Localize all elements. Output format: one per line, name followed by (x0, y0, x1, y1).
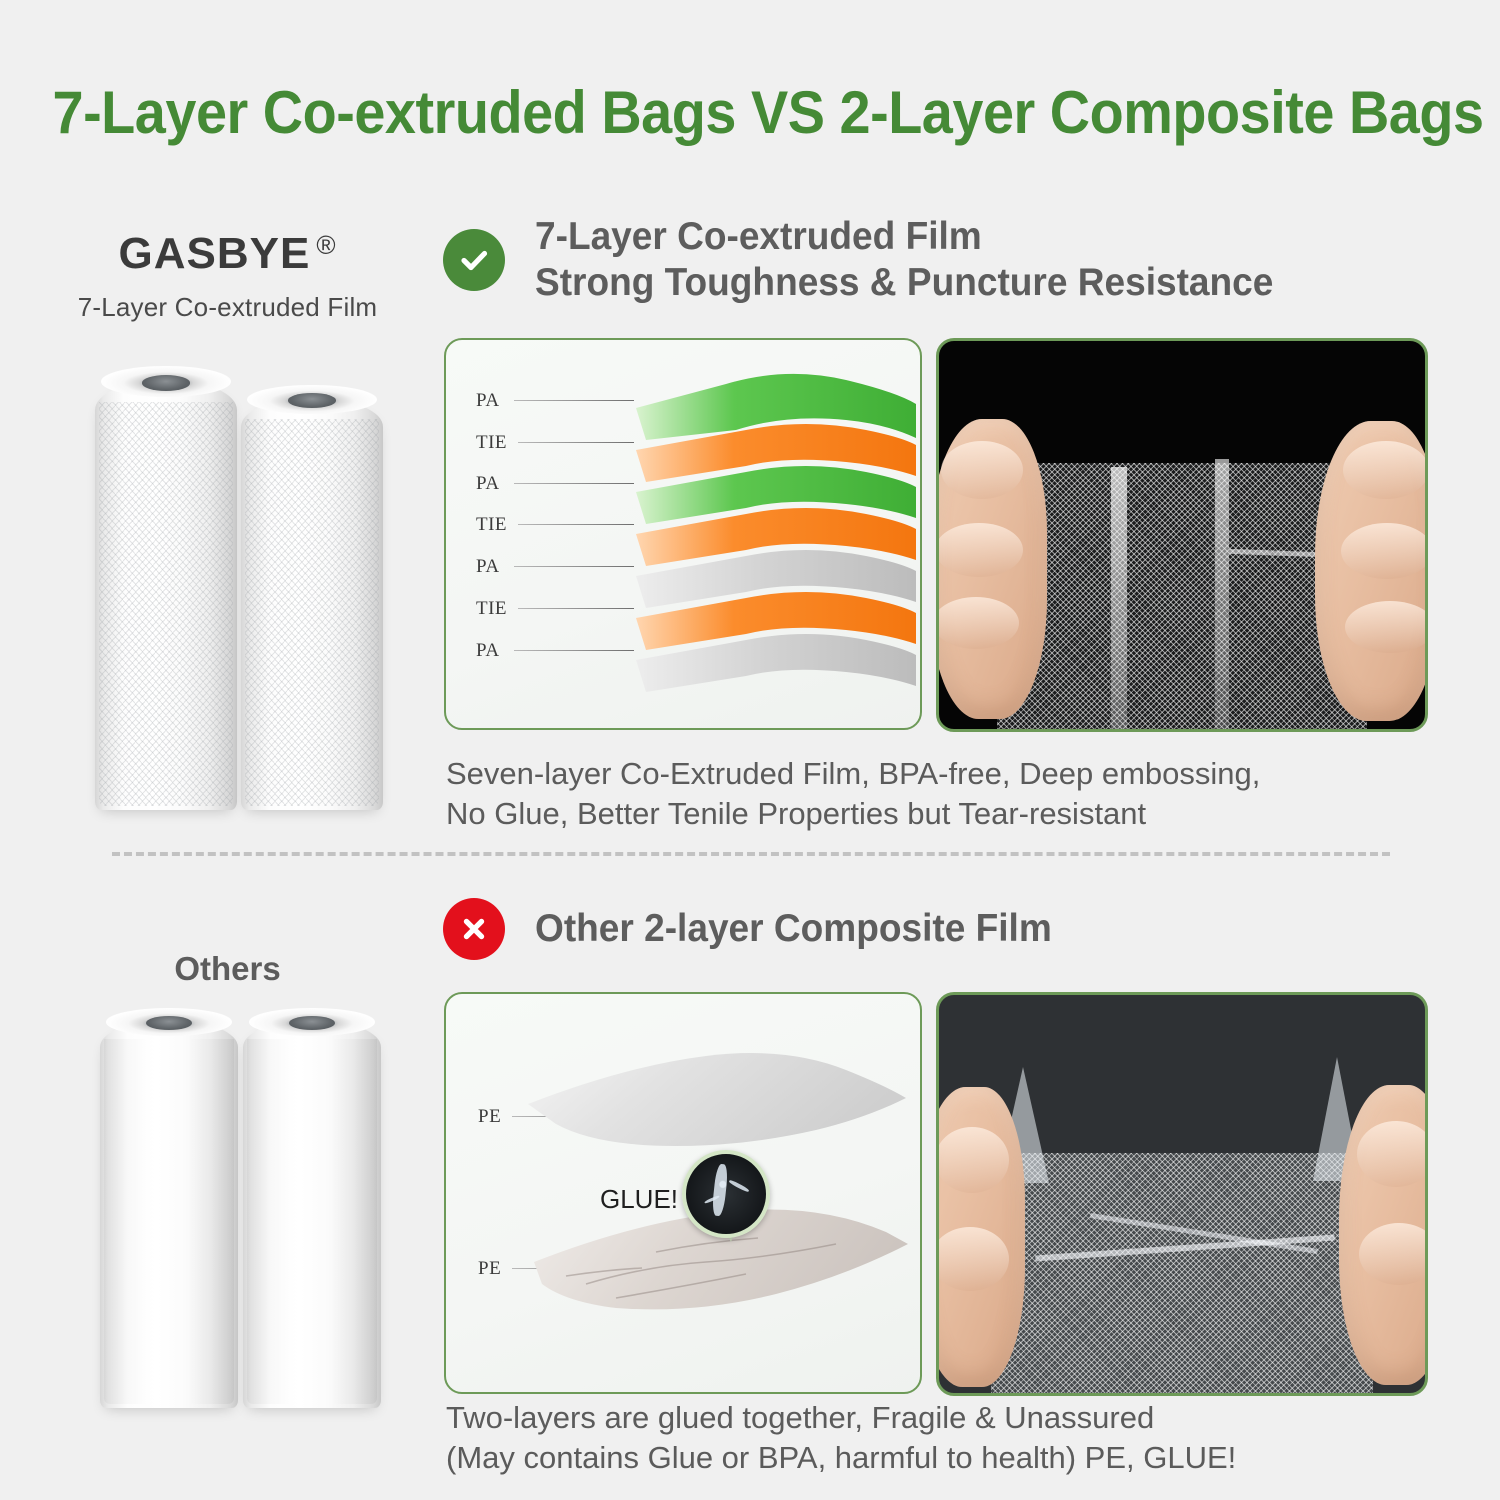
top-section-caption: Seven-layer Co-Extruded Film, BPA-free, … (446, 754, 1346, 833)
product-roll (100, 1020, 238, 1408)
left-hand-graphic (936, 1087, 1025, 1387)
roll-core-icon (142, 375, 190, 390)
film-highlight (1111, 467, 1127, 729)
knuckle (936, 523, 1023, 577)
brand-name-text: GASBYE (119, 229, 311, 278)
photo-content (939, 341, 1425, 729)
product-roll (95, 380, 237, 810)
top-heading-line2: Strong Toughness & Puncture Resistance (535, 260, 1273, 306)
top-section-heading: 7-Layer Co-extruded Film Strong Toughnes… (443, 214, 1312, 306)
knuckle (1359, 1223, 1428, 1285)
knuckle (936, 1227, 1009, 1291)
bottom-heading-text: Other 2-layer Composite Film (535, 906, 1052, 952)
bottom-heading-line1: Other 2-layer Composite Film (535, 906, 1052, 952)
check-circle-icon (443, 229, 505, 291)
top-heading-line1: 7-Layer Co-extruded Film (535, 214, 1273, 260)
bottom-section-caption: Two-layers are glued together, Fragile &… (446, 1398, 1366, 1477)
film-tear-photo (936, 992, 1428, 1396)
right-hand-graphic (1339, 1085, 1428, 1385)
knuckle (1343, 441, 1428, 499)
roll-core-icon (289, 1016, 336, 1030)
roll-core-icon (146, 1016, 193, 1030)
brand-block: GASBYE® 7-Layer Co-extruded Film (55, 232, 400, 323)
two-layer-diagram-card: PE PE GLUE! (444, 992, 922, 1394)
others-product-rolls (100, 1008, 385, 1408)
knuckle (936, 1127, 1009, 1193)
torn-film-graphic (991, 1153, 1373, 1393)
brand-name: GASBYE® (55, 232, 400, 276)
gasbye-product-rolls (95, 362, 385, 810)
page-title: 7-Layer Co-extruded Bags VS 2-Layer Comp… (53, 78, 1448, 147)
left-hand-graphic (936, 419, 1047, 719)
bottom-section-heading: Other 2-layer Composite Film (443, 898, 1079, 960)
knuckle (1341, 523, 1428, 579)
knuckle (1357, 1121, 1428, 1187)
photo-content (939, 995, 1425, 1393)
registered-mark-icon: ® (316, 230, 336, 260)
knuckle (936, 597, 1019, 649)
glue-callout-label: GLUE! (600, 1184, 678, 1215)
others-label: Others (55, 950, 400, 988)
glue-streak (711, 1164, 728, 1217)
layer-stack-graphic (446, 340, 920, 728)
film-highlight (1215, 459, 1229, 729)
glue-magnifier-icon (682, 1150, 770, 1238)
brand-subtitle: 7-Layer Co-extruded Film (55, 292, 400, 323)
knuckle (941, 441, 1023, 499)
film-stretch-photo (936, 338, 1428, 732)
stretched-film-graphic (997, 463, 1367, 729)
glue-streak (728, 1179, 749, 1193)
section-divider (112, 852, 1390, 856)
cross-circle-icon (443, 898, 505, 960)
right-hand-graphic (1315, 421, 1428, 721)
seven-layer-diagram-card: PA TIE PA TIE PA TIE PA (444, 338, 922, 730)
top-heading-text: 7-Layer Co-extruded Film Strong Toughnes… (535, 214, 1273, 306)
product-roll (243, 1020, 381, 1408)
knuckle (1345, 601, 1428, 653)
product-roll (241, 398, 383, 810)
